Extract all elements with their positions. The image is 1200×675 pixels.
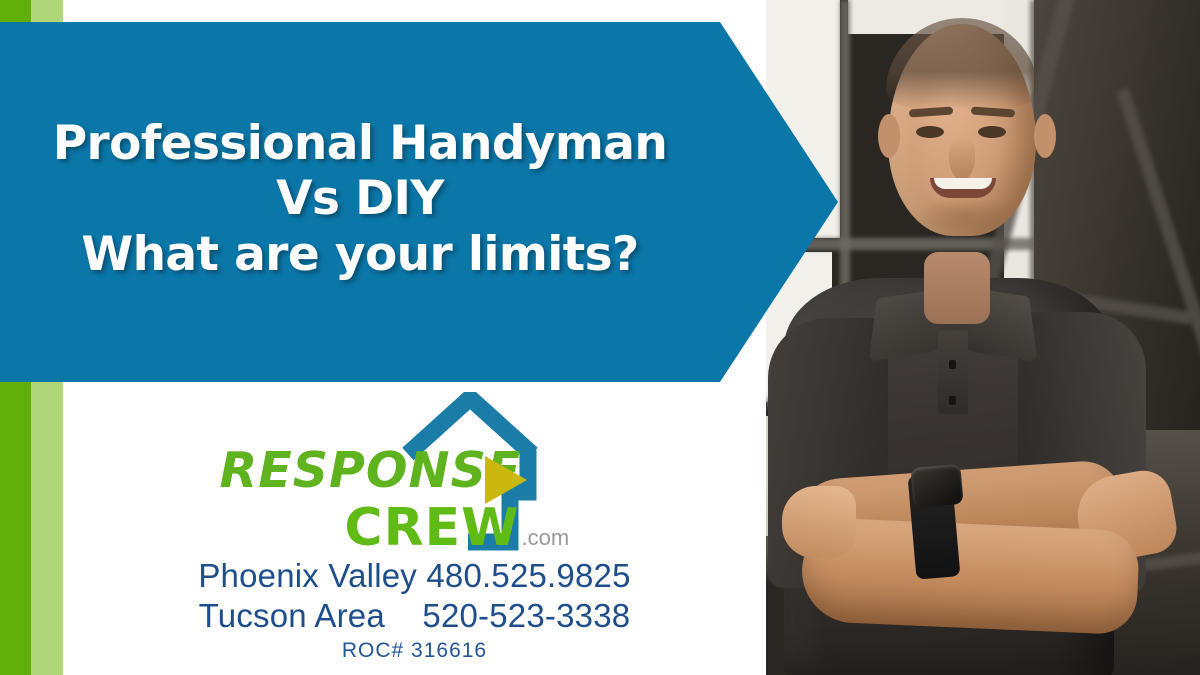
neck [924,252,990,324]
shirt-button [949,396,956,405]
eye-right [978,126,1006,138]
headline-text-group: Professional Handyman Vs DIY What are yo… [0,22,720,382]
headline-banner: Professional Handyman Vs DIY What are yo… [0,22,838,382]
ear-right [1034,114,1056,158]
smartwatch-face [910,464,963,508]
logo-and-contact-block: RESPONSE CREW .com Phoenix Valley 480.52… [63,392,766,663]
contact-line-tucson[interactable]: Tucson Area 520-523-3338 [63,596,766,636]
play-triangle-icon [485,456,527,504]
chin-shadow [916,196,1012,236]
hair [886,18,1038,110]
responsecrew-logo[interactable]: RESPONSE CREW .com [220,392,610,560]
smiling-mouth [930,178,996,198]
logo-wordmark-crew: CREW [280,498,520,558]
contact-line-phoenix[interactable]: Phoenix Valley 480.525.9825 [63,556,766,596]
contact-info: Phoenix Valley 480.525.9825 Tucson Area … [63,556,766,663]
nose [949,136,975,180]
headline-line-1: Professional Handyman [53,116,668,171]
ear-left [878,114,900,158]
person-portrait [766,0,1200,675]
fist [782,486,856,558]
eye-left [916,126,944,138]
logo-wordmark-response: RESPONSE [220,442,520,499]
shirt-button [949,360,956,369]
license-number: ROC# 316616 [63,639,766,663]
teeth [934,178,992,189]
headline-line-3: What are your limits? [81,227,638,282]
logo-tld: .com [522,525,570,551]
hero-photo [766,0,1200,675]
headline-line-2: Vs DIY [276,171,444,226]
promo-banner-canvas: Professional Handyman Vs DIY What are yo… [0,0,1200,675]
